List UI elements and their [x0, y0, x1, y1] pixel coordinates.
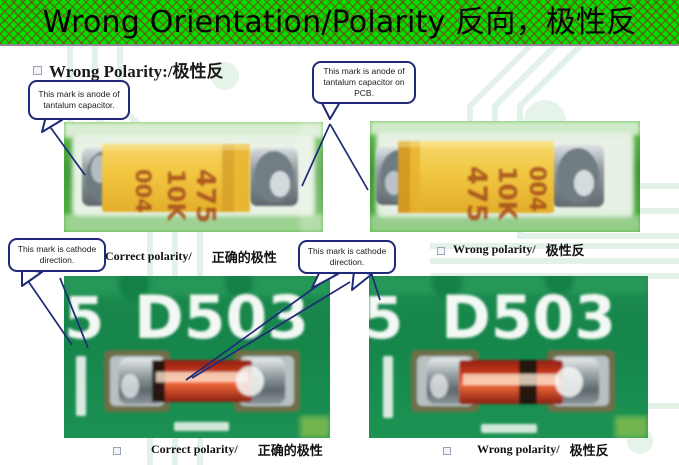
callout-cathode-direction-right-text: This mark is cathode direction. — [298, 240, 396, 274]
callout-anode-tantalum: This mark is anode of tantalum capacitor… — [28, 80, 130, 120]
callout-anode-tantalum-pcb-text: This mark is anode of tantalum capacitor… — [312, 61, 416, 104]
callout-cathode-direction-right: This mark is cathode direction. — [298, 240, 396, 274]
callout-anode-tantalum-pcb: This mark is anode of tantalum capacitor… — [312, 61, 416, 104]
callout-anode-tantalum-text: This mark is anode of tantalum capacitor… — [28, 80, 130, 120]
callout-cathode-direction-left-text: This mark is cathode direction. — [8, 238, 106, 272]
callout-cathode-direction-left: This mark is cathode direction. — [8, 238, 106, 272]
